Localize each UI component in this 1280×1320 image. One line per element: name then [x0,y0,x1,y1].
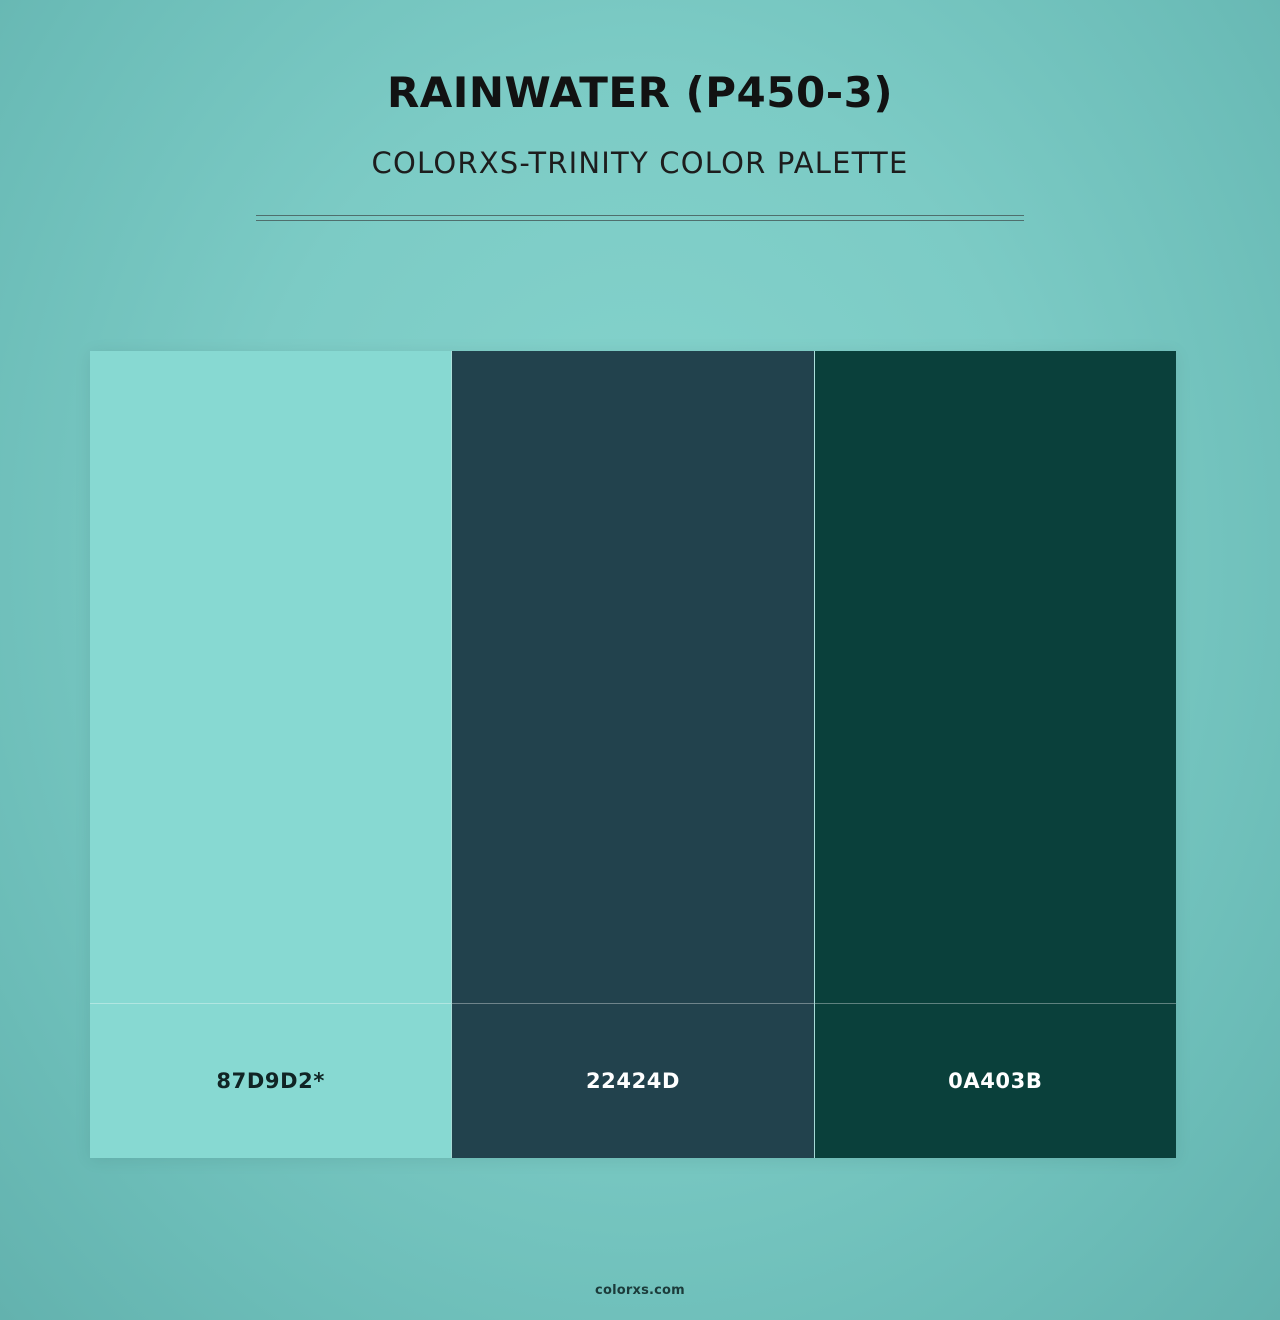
swatch-hex-label: 22424D [586,1069,680,1093]
swatch-label-area: 22424D [452,1003,813,1158]
page-root: RAINWATER (P450-3) COLORXS-TRINITY COLOR… [0,0,1280,1320]
swatch-hex-label: 87D9D2* [216,1069,325,1093]
footer: colorxs.com [0,1279,1280,1298]
divider-wrap [0,215,1280,221]
page-subtitle: COLORXS-TRINITY COLOR PALETTE [0,146,1280,181]
swatch-color-block [90,351,451,1003]
footer-credit: colorxs.com [595,1283,685,1298]
swatch-color-block [815,351,1176,1003]
swatch-color-block [452,351,813,1003]
header: RAINWATER (P450-3) COLORXS-TRINITY COLOR… [0,0,1280,221]
color-swatch[interactable]: 22424D [451,351,813,1158]
swatch-label-area: 0A403B [815,1003,1176,1158]
page-title: RAINWATER (P450-3) [0,68,1280,118]
color-swatch[interactable]: 87D9D2* [90,351,451,1158]
color-palette: 87D9D2* 22424D 0A403B [90,351,1176,1158]
swatch-label-area: 87D9D2* [90,1003,451,1158]
color-swatch[interactable]: 0A403B [814,351,1176,1158]
swatch-hex-label: 0A403B [948,1069,1042,1093]
divider-rule [256,215,1024,221]
